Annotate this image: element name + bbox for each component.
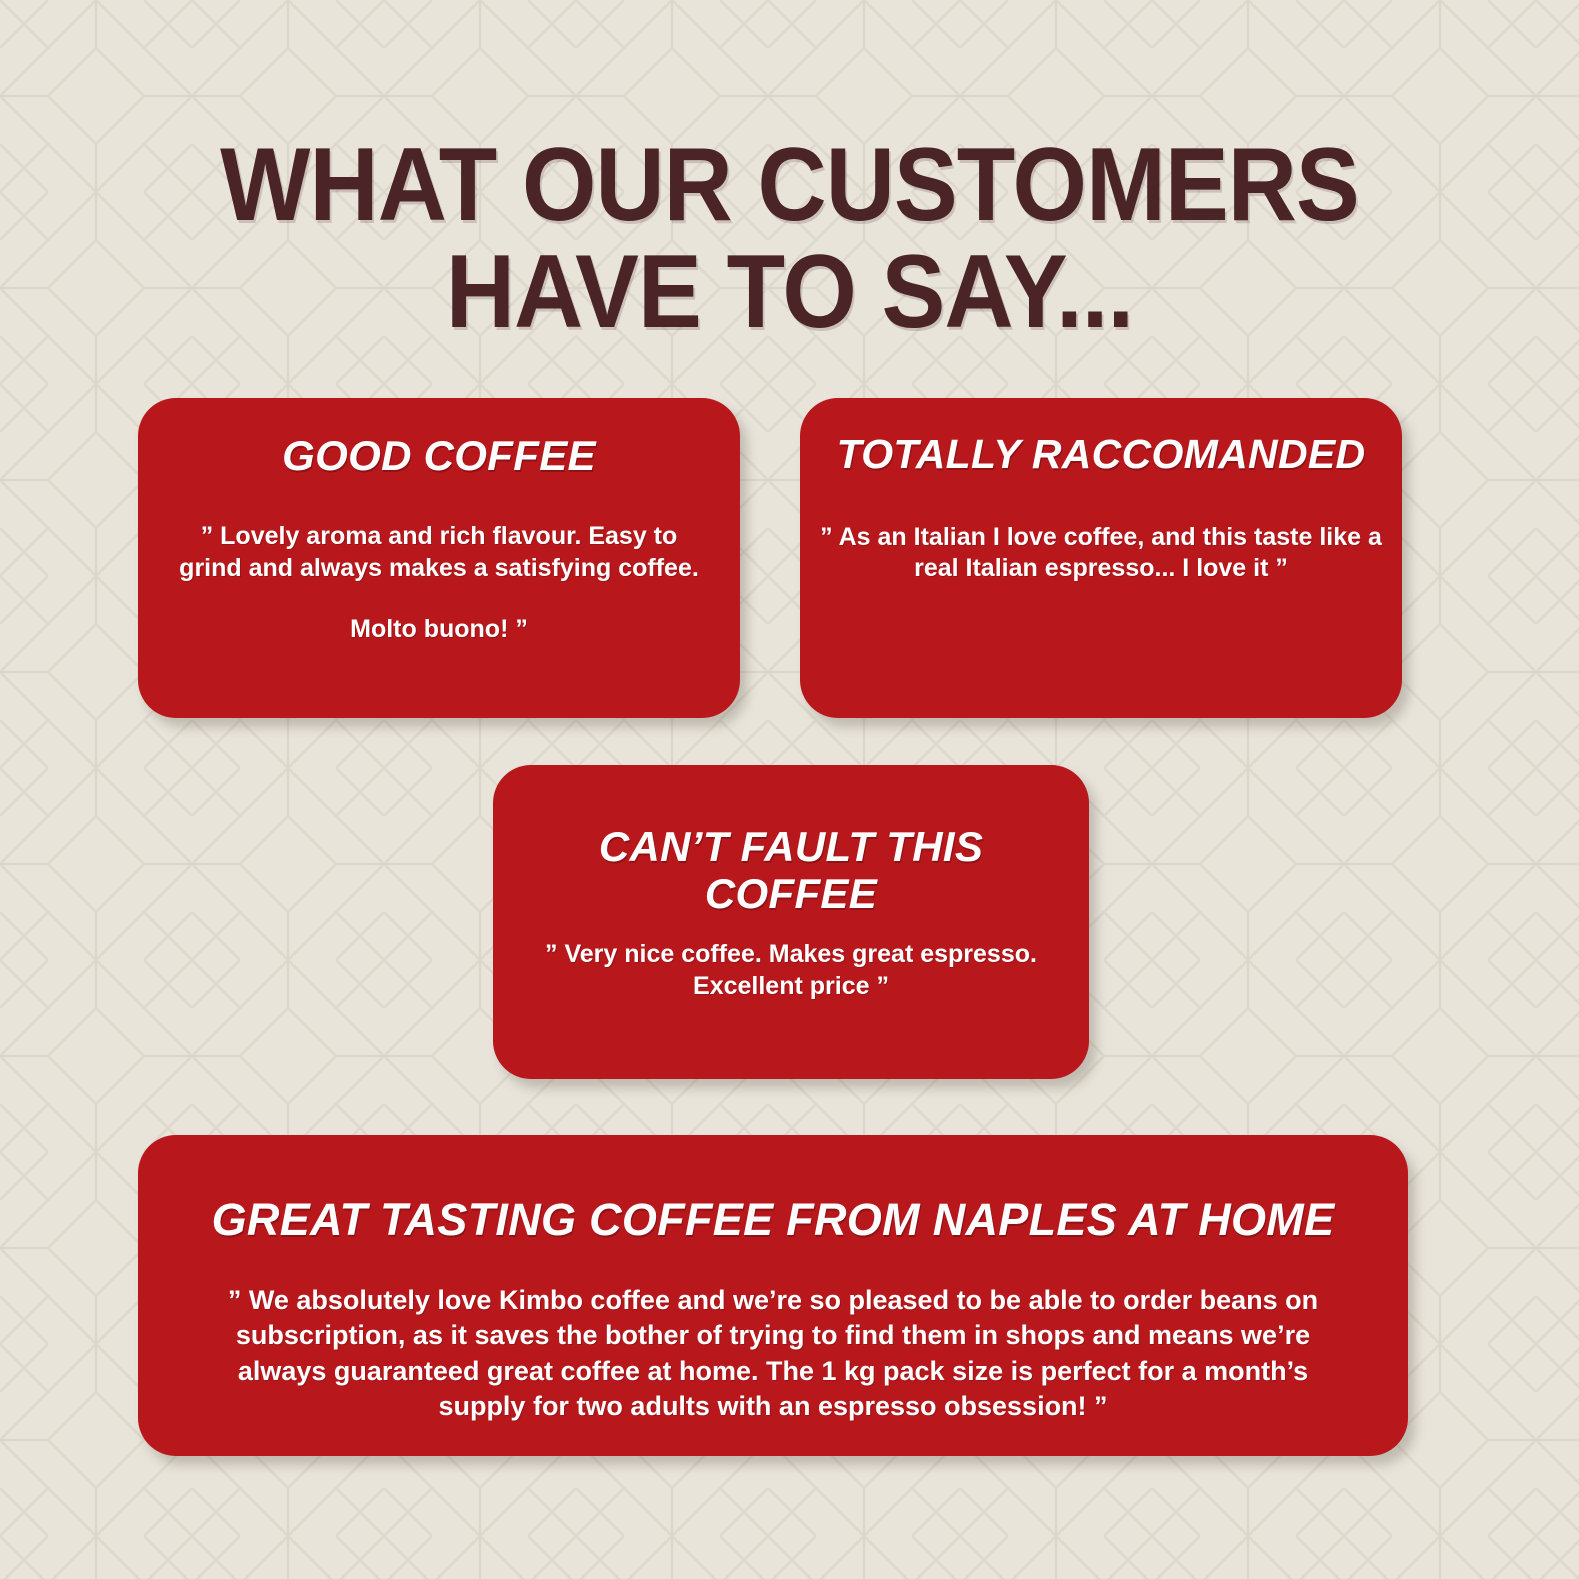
testimonial-card-totally-raccomanded: TOTALLY RACCOMANDED ” As an Italian I lo… xyxy=(800,398,1402,718)
testimonial-card-cant-fault-this-coffee: CAN’T FAULT THIS COFFEE ” Very nice coff… xyxy=(493,765,1089,1079)
testimonial-title: GOOD COFFEE xyxy=(168,432,710,479)
testimonial-title: TOTALLY RACCOMANDED xyxy=(818,432,1384,478)
testimonials-poster: WHAT OUR CUSTOMERS HAVE TO SAY... GOOD C… xyxy=(0,0,1579,1579)
testimonial-quote: ” We absolutely love Kimbo coffee and we… xyxy=(192,1283,1354,1423)
testimonial-title: GREAT TASTING COFFEE FROM NAPLES AT HOME xyxy=(192,1195,1354,1245)
testimonial-card-good-coffee: GOOD COFFEE ” Lovely aroma and rich flav… xyxy=(138,398,740,718)
page-title-line-1: WHAT OUR CUSTOMERS xyxy=(63,132,1516,239)
testimonial-title: CAN’T FAULT THIS COFFEE xyxy=(523,823,1059,917)
testimonial-quote-secondary: Molto buono! ” xyxy=(168,614,710,646)
testimonial-quote: ” Very nice coffee. Makes great espresso… xyxy=(523,939,1059,1002)
testimonial-card-great-tasting-coffee-from-naples-at-home: GREAT TASTING COFFEE FROM NAPLES AT HOME… xyxy=(138,1135,1408,1456)
page-title-line-2: HAVE TO SAY... xyxy=(63,239,1516,346)
page-title: WHAT OUR CUSTOMERS HAVE TO SAY... xyxy=(63,132,1516,346)
testimonial-quote: ” Lovely aroma and rich flavour. Easy to… xyxy=(168,521,710,584)
testimonial-quote: ” As an Italian I love coffee, and this … xyxy=(818,522,1384,585)
